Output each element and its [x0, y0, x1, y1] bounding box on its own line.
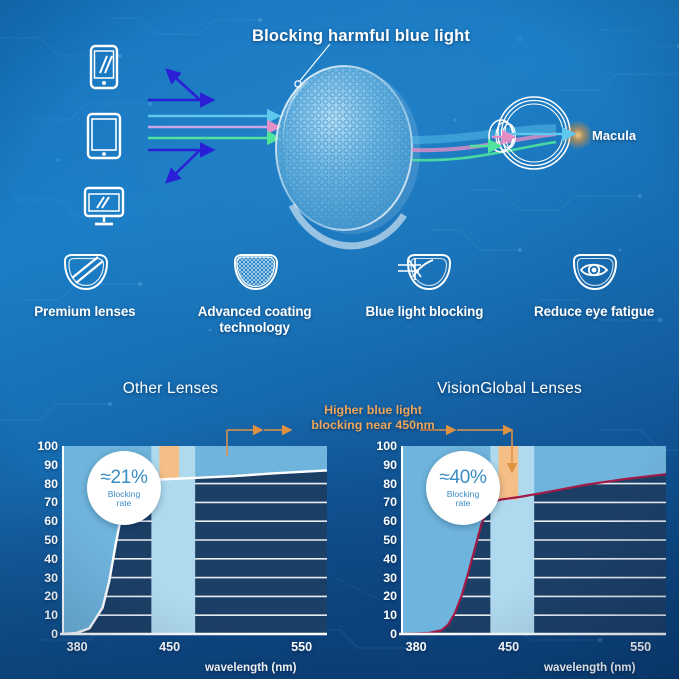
y-axis-tick: 20	[28, 589, 58, 603]
x-axis-tick: 450	[151, 640, 189, 654]
y-axis-tick: 70	[367, 495, 397, 509]
chart-visionglobal-lenses: VisionGlobal Lenses 01020304050607080901…	[340, 372, 679, 679]
lens-blueblock-icon	[395, 250, 453, 298]
infographic-root: Blocking harmful blue light Macula Premi…	[0, 0, 679, 679]
y-axis-tick: 20	[367, 589, 397, 603]
y-axis-tick: 0	[367, 627, 397, 641]
y-axis-tick: 60	[367, 514, 397, 528]
feature-advanced-coating[interactable]: Advanced coating technology	[170, 250, 340, 335]
x-axis-tick: 550	[283, 640, 321, 654]
feature-reduce-eye-fatigue[interactable]: Reduce eye fatigue	[509, 250, 679, 320]
lens-coating-icon	[228, 250, 282, 298]
feature-label: Premium lenses	[34, 304, 135, 320]
y-axis-tick: 80	[367, 477, 397, 491]
blocking-rate-value: ≈40%	[439, 468, 486, 487]
feature-label: Advanced coating technology	[170, 304, 340, 335]
x-axis-tick: 450	[490, 640, 528, 654]
blocking-rate-caption-2: rate	[117, 498, 132, 508]
y-axis-tick: 90	[367, 458, 397, 472]
y-axis-tick: 30	[367, 571, 397, 585]
y-axis-tick: 40	[367, 552, 397, 566]
y-axis-tick: 50	[367, 533, 397, 547]
y-axis-tick: 100	[28, 439, 58, 453]
x-axis-tick: 550	[622, 640, 660, 654]
blocking-rate-badge: ≈21% Blocking rate	[87, 451, 161, 525]
y-axis-tick: 10	[28, 608, 58, 622]
y-axis-tick: 60	[28, 514, 58, 528]
y-axis-tick: 0	[28, 627, 58, 641]
blocking-rate-badge: ≈40% Blocking rate	[426, 451, 500, 525]
x-axis-caption: wavelength (nm)	[205, 661, 296, 674]
x-axis-caption: wavelength (nm)	[544, 661, 635, 674]
feature-label: Blue light blocking	[365, 304, 483, 320]
y-axis-tick: 40	[28, 552, 58, 566]
y-axis-tick: 50	[28, 533, 58, 547]
macula-label: Macula	[592, 128, 636, 143]
feature-blue-light-blocking[interactable]: Blue light blocking	[340, 250, 510, 320]
feature-premium-lenses[interactable]: Premium lenses	[0, 250, 170, 320]
y-axis-tick: 100	[367, 439, 397, 453]
y-axis-tick: 30	[28, 571, 58, 585]
y-axis-tick: 10	[367, 608, 397, 622]
blocking-rate-value: ≈21%	[100, 468, 147, 487]
y-axis-tick: 80	[28, 477, 58, 491]
lens-element	[276, 66, 420, 246]
blocked-ray-upper	[148, 70, 213, 100]
hero-callout-label: Blocking harmful blue light	[252, 27, 470, 46]
y-axis-tick: 70	[28, 495, 58, 509]
hero-section: Blocking harmful blue light Macula	[0, 0, 679, 250]
x-axis-tick: 380	[397, 640, 435, 654]
x-axis-tick: 380	[58, 640, 96, 654]
lens-eye-icon	[567, 250, 621, 298]
y-axis-tick: 90	[28, 458, 58, 472]
charts-section: Other Lenses 010203040506070809010038045…	[0, 372, 679, 679]
chart-other-lenses: Other Lenses 010203040506070809010038045…	[1, 372, 340, 679]
blocked-ray-lower	[148, 150, 213, 182]
feature-row: Premium lenses	[0, 250, 679, 370]
feature-label: Reduce eye fatigue	[534, 304, 654, 320]
blocking-rate-caption-2: rate	[456, 498, 471, 508]
lens-shine-icon	[58, 250, 112, 298]
